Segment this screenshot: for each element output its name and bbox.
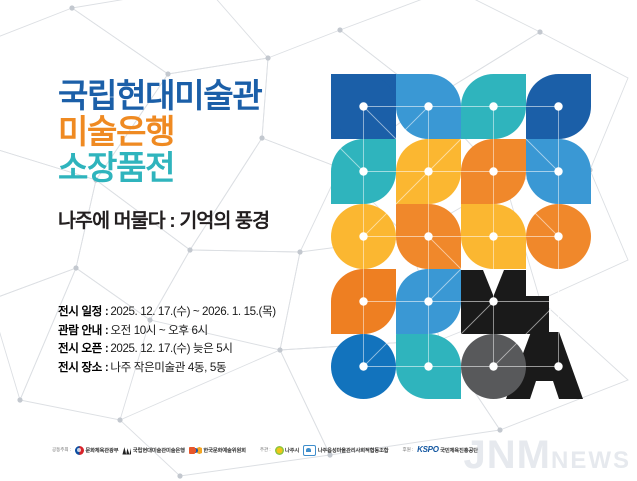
sponsor-name: 한국문화예술위원회 <box>203 446 246 454</box>
cohost-label: 공동주최 : <box>52 447 71 453</box>
info-separator: : <box>102 359 110 378</box>
poster-title-line-3: 소장품전 <box>58 150 318 186</box>
info-label-hours: 관람 안내 <box>58 322 102 341</box>
sponsor-name: 나주읍성마을관리사회적협동조합 <box>318 446 389 454</box>
info-row-schedule: 전시 일정 : 2025. 12. 17.(수) ~ 2026. 1. 15.(… <box>58 303 324 322</box>
sponsor-supporter-kspo: KSPO 국민체육진흥공단 <box>417 446 478 454</box>
info-value-venue: 나주 작은미술관 4동, 5동 <box>110 359 226 378</box>
kspo-logo-icon: KSPO <box>417 446 438 454</box>
exhibition-poster: 국립현대미술관 미술은행 소장품전 나주에 머물다 : 기억의 풍경 전시 일정… <box>0 0 637 481</box>
arko-logo-icon <box>189 447 202 454</box>
sponsor-name: 국립현대미술관미술은행 <box>133 446 185 454</box>
info-row-opening: 전시 오픈 : 2025. 12. 17.(수) 늦은 5시 <box>58 340 324 359</box>
sponsor-name: 문화체육관광부 <box>85 446 118 454</box>
info-value-hours: 오전 10시 ~ 오후 6시 <box>110 322 207 341</box>
info-separator: : <box>102 322 110 341</box>
info-label-opening: 전시 오픈 <box>58 340 102 359</box>
mmca-identity-artwork <box>330 74 592 399</box>
sponsor-logo-strip: 공동주최 : 문화체육관광부 국립현대미술관미술은행 한국문화예술위원회 주관 … <box>52 441 562 459</box>
poster-subtitle: 나주에 머물다 : 기억의 풍경 <box>58 204 318 233</box>
info-label-venue: 전시 장소 <box>58 359 102 378</box>
sponsor-host-naju-city: 나주시 <box>275 446 300 455</box>
poster-title-line-2: 미술은행 <box>58 114 318 150</box>
naju-coop-logo-icon <box>303 445 316 456</box>
naju-city-logo-icon <box>275 446 284 455</box>
mmca-logo-icon <box>122 446 131 455</box>
info-label-schedule: 전시 일정 <box>58 303 102 322</box>
sponsor-name: 나주시 <box>285 446 299 454</box>
host-label: 주관 : <box>260 447 271 453</box>
poster-title-line-1: 국립현대미술관 <box>58 78 318 114</box>
support-label: 후원 : <box>403 447 414 453</box>
info-row-hours: 관람 안내 : 오전 10시 ~ 오후 6시 <box>58 322 324 341</box>
sponsor-cohost-mcst: 문화체육관광부 <box>75 446 119 455</box>
info-value-opening: 2025. 12. 17.(수) 늦은 5시 <box>110 340 232 359</box>
sponsor-name: 국민체육진흥공단 <box>440 446 478 454</box>
watermark-sub: NEWS <box>551 447 631 474</box>
info-separator: : <box>102 303 110 322</box>
info-row-venue: 전시 장소 : 나주 작은미술관 4동, 5동 <box>58 359 324 378</box>
sponsor-cohost-arko: 한국문화예술위원회 <box>189 446 246 454</box>
poster-text-column: 국립현대미술관 미술은행 소장품전 나주에 머물다 : 기억의 풍경 <box>58 78 318 233</box>
sponsor-host-naju-coop: 나주읍성마을관리사회적협동조합 <box>303 445 388 456</box>
sponsor-cohost-mmca: 국립현대미술관미술은행 <box>122 446 184 455</box>
exhibition-info-block: 전시 일정 : 2025. 12. 17.(수) ~ 2026. 1. 15.(… <box>58 303 324 377</box>
korea-government-emblem-icon <box>75 446 84 455</box>
info-value-schedule: 2025. 12. 17.(수) ~ 2026. 1. 15.(목) <box>110 303 275 322</box>
info-separator: : <box>102 340 110 359</box>
